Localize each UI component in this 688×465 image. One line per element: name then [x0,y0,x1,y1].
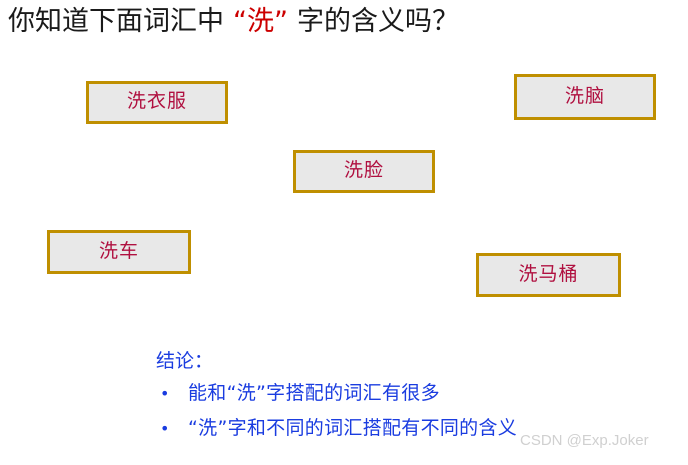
word-box-label: 洗衣服 [127,92,187,113]
word-box-xiyifu[interactable]: 洗衣服 [86,81,228,124]
word-box-xilian[interactable]: 洗脸 [293,150,435,193]
list-item-label: “洗”字和不同的词汇搭配有不同的含义 [188,411,517,445]
word-box-xiche[interactable]: 洗车 [47,230,191,274]
watermark: CSDN @Exp.Joker [520,432,649,449]
list-item: • 能和“洗”字搭配的词汇有很多 [156,376,676,411]
word-box-label: 洗脑 [565,87,605,108]
page-title-prefix: 你知道下面词汇中 [8,6,224,37]
bullet-icon: • [156,412,188,446]
word-box-label: 洗脸 [344,161,384,182]
list-item-label: 能和“洗”字搭配的词汇有很多 [188,376,440,410]
page-title: 你知道下面词汇中“洗”字的含义吗？ [8,2,680,46]
page-title-suffix: 字的含义吗？ [297,6,459,37]
conclusion-heading: 结论： [156,346,676,376]
word-box-xinao[interactable]: 洗脑 [514,74,656,120]
word-box-ximatong[interactable]: 洗马桶 [476,253,621,297]
bullet-icon: • [156,377,188,411]
word-box-label: 洗马桶 [518,265,578,286]
page-title-highlight: “洗” [233,6,288,37]
conclusion-block: 结论： • 能和“洗”字搭配的词汇有很多 • “洗”字和不同的词汇搭配有不同的含… [156,346,676,446]
word-box-label: 洗车 [99,242,139,263]
